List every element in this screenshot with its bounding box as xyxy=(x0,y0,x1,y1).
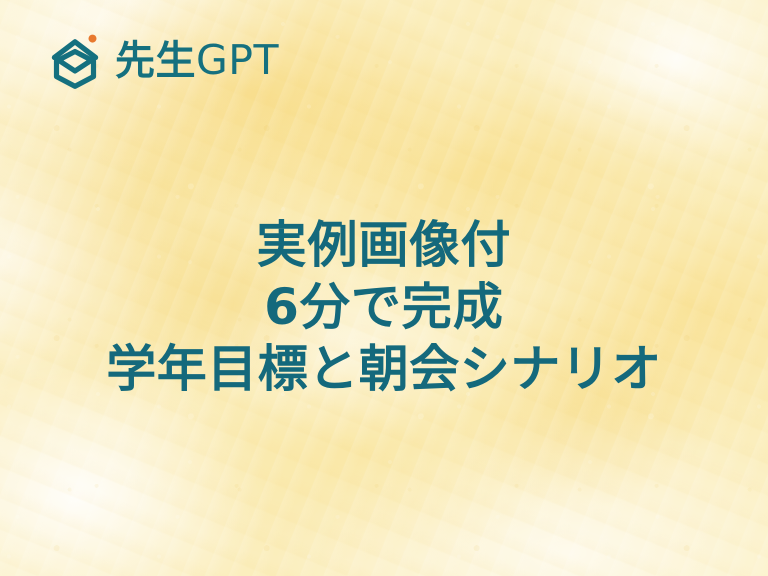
brand-wordmark: 先生 GPT xyxy=(115,40,279,81)
graduation-cap-icon xyxy=(46,31,104,89)
slide-root: 先生 GPT 実例画像付 6分で完成 学年目標と朝会シナリオ xyxy=(0,0,768,576)
headline-block: 実例画像付 6分で完成 学年目標と朝会シナリオ xyxy=(0,214,768,400)
brand-name-jp: 先生 xyxy=(115,41,196,81)
brand-logo: 先生 GPT xyxy=(46,31,279,89)
headline-line-3: 学年目標と朝会シナリオ xyxy=(0,338,768,400)
headline-line-2: 6分で完成 xyxy=(0,276,768,338)
brand-name-en: GPT xyxy=(196,40,279,81)
headline-line-1: 実例画像付 xyxy=(0,214,768,276)
